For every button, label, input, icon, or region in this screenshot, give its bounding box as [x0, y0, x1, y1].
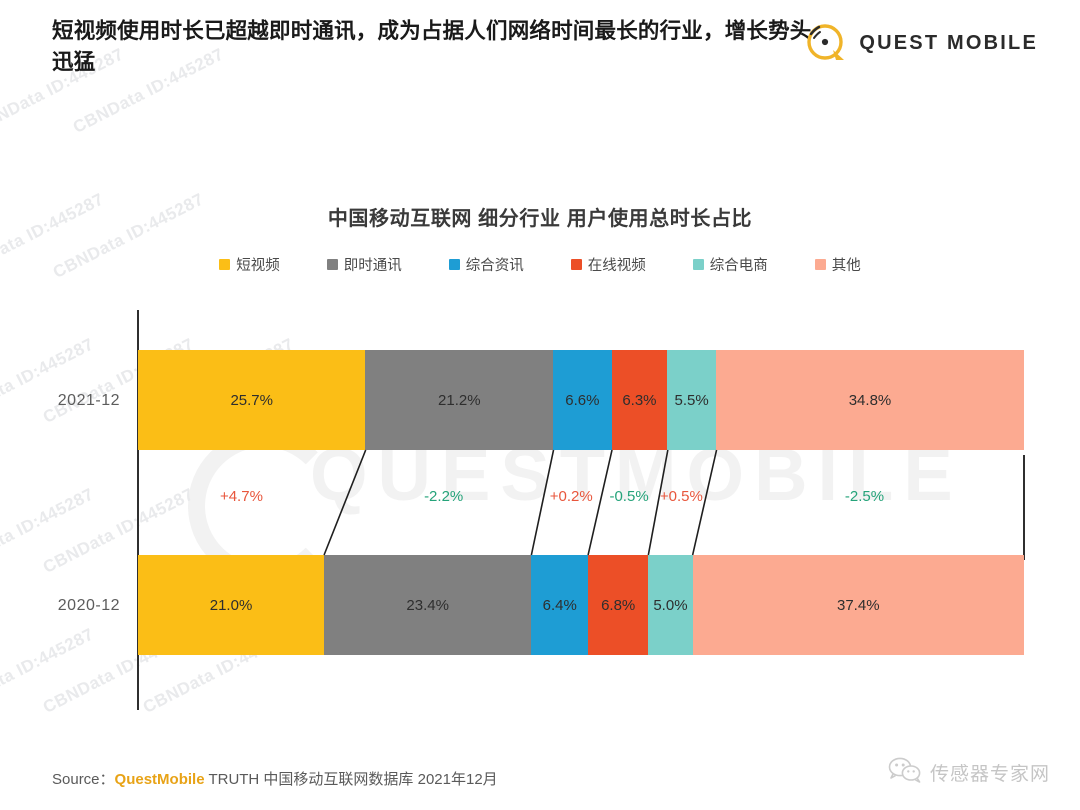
legend-swatch-icon	[571, 259, 582, 270]
legend-item-0[interactable]: 短视频	[219, 254, 280, 275]
bar-segment[interactable]: 25.7%	[138, 350, 365, 450]
source-brand: QuestMobile	[115, 771, 205, 788]
wechat-watermark: 传感器专家网	[888, 757, 1050, 788]
bar-segment[interactable]: 6.8%	[588, 555, 648, 655]
bar-segment[interactable]: 5.5%	[667, 350, 716, 450]
brand-lockup: QUEST MOBILE	[803, 20, 1038, 66]
stacked-bar-chart: 中国移动互联网 细分行业 用户使用总时长占比 短视频即时通讯综合资讯在线视频综合…	[0, 92, 1080, 732]
delta-label: -2.5%	[825, 488, 905, 505]
legend-label: 即时通讯	[344, 254, 402, 275]
chart-legend: 短视频即时通讯综合资讯在线视频综合电商其他	[0, 254, 1080, 275]
legend-swatch-icon	[693, 259, 704, 270]
legend-swatch-icon	[219, 259, 230, 270]
bar-segment[interactable]: 5.0%	[648, 555, 692, 655]
legend-swatch-icon	[327, 259, 338, 270]
legend-swatch-icon	[815, 259, 826, 270]
delta-row: +4.7%-2.2%+0.2%-0.5%+0.5%-2.5%	[138, 450, 1024, 555]
legend-item-5[interactable]: 其他	[815, 254, 861, 275]
source-note: Source：QuestMobile TRUTH 中国移动互联网数据库 2021…	[52, 768, 498, 789]
bar-segment[interactable]: 23.4%	[324, 555, 531, 655]
plot-area: 2021-12 2020-12 25.7%21.2%6.6%6.3%5.5%34…	[138, 310, 1024, 710]
source-rest: TRUTH 中国移动互联网数据库 2021年12月	[205, 771, 498, 788]
bar-segment[interactable]: 6.4%	[531, 555, 588, 655]
legend-label: 在线视频	[588, 254, 646, 275]
legend-item-4[interactable]: 综合电商	[693, 254, 768, 275]
category-label-2021: 2021-12	[10, 392, 120, 410]
legend-label: 其他	[832, 254, 861, 275]
legend-item-2[interactable]: 综合资讯	[449, 254, 524, 275]
delta-label: -2.2%	[404, 488, 484, 505]
bar-segment[interactable]: 6.3%	[612, 350, 668, 450]
bar-segment[interactable]: 21.2%	[365, 350, 553, 450]
page-header: 短视频使用时长已超越即时通讯，成为占据人们网络时间最长的行业，增长势头迅猛 QU…	[0, 0, 1080, 92]
legend-swatch-icon	[449, 259, 460, 270]
delta-label: +4.7%	[201, 488, 281, 505]
page-title: 短视频使用时长已超越即时通讯，成为占据人们网络时间最长的行业，增长势头迅猛	[52, 16, 812, 77]
legend-item-3[interactable]: 在线视频	[571, 254, 646, 275]
delta-label: +0.5%	[641, 488, 721, 505]
bar-segment[interactable]: 34.8%	[716, 350, 1024, 450]
legend-label: 综合资讯	[466, 254, 524, 275]
legend-item-1[interactable]: 即时通讯	[327, 254, 402, 275]
bar-row-2021-12: 25.7%21.2%6.6%6.3%5.5%34.8%	[138, 350, 1024, 450]
chart-title: 中国移动互联网 细分行业 用户使用总时长占比	[0, 202, 1080, 231]
questmobile-logo-icon	[803, 20, 849, 66]
source-prefix: Source：	[52, 771, 115, 788]
bar-segment[interactable]: 6.6%	[553, 350, 611, 450]
legend-label: 短视频	[236, 254, 280, 275]
wechat-icon	[888, 757, 922, 788]
bar-segment[interactable]: 21.0%	[138, 555, 324, 655]
wechat-account-name: 传感器专家网	[930, 759, 1050, 786]
brand-name: QUEST MOBILE	[859, 32, 1038, 55]
legend-label: 综合电商	[710, 254, 768, 275]
category-label-2020: 2020-12	[10, 597, 120, 615]
bar-segment[interactable]: 37.4%	[693, 555, 1024, 655]
bar-row-2020-12: 21.0%23.4%6.4%6.8%5.0%37.4%	[138, 555, 1024, 655]
